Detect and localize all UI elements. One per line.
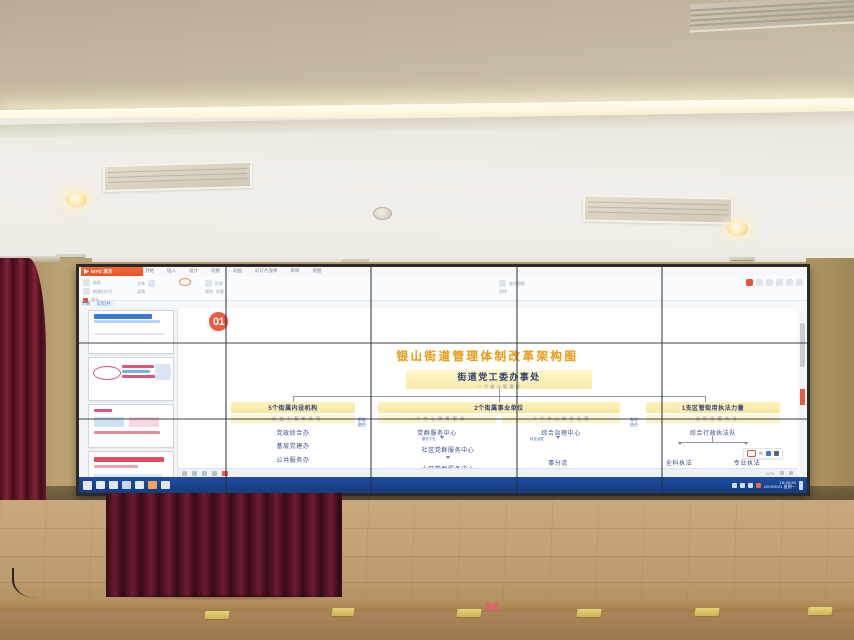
video-wall-bezel-v4 (661, 267, 663, 493)
org-col3-head: 1支区管街用执法力量 (646, 402, 780, 413)
ribbon-label-newslide: 新建幻灯片 (93, 289, 113, 295)
org-col2-item-left: 党群服务中心 (378, 428, 496, 437)
tab-slideshow[interactable]: 幻灯片放映 (255, 268, 278, 274)
minimize-icon[interactable] (786, 279, 793, 286)
wps-logo-badge: WPS 演示 (81, 267, 143, 276)
scrollbar-marker (800, 389, 805, 405)
conference-room-photo: WPS 演示 开始 插入 设计 切换 动画 幻灯片放映 审阅 视图 粘贴 (0, 0, 854, 640)
floor-tape-marker-2 (331, 608, 354, 616)
wps-app-name: WPS 演示 (91, 269, 113, 275)
org-flow-tag-left: 服务下沉 (422, 438, 436, 442)
org-arrow-down-3 (446, 456, 450, 459)
newslide-icon[interactable] (83, 288, 90, 295)
shape-icon[interactable] (205, 280, 212, 287)
tab-insert[interactable]: 插入 (167, 268, 176, 274)
ribbon-tab-row[interactable]: 开始 插入 设计 切换 动画 幻灯片放映 审阅 视图 (145, 268, 322, 274)
ribbon-group-paste[interactable]: 粘贴 新建幻灯片 版式 (83, 279, 113, 303)
org-col1-head: 5个街属内设机构 (231, 402, 355, 413)
podium-table-skirt (106, 477, 342, 597)
tab-animation[interactable]: 动画 (233, 268, 242, 274)
floor-tape-marker-4 (576, 609, 601, 617)
ribbon-label-paste: 粘贴 (93, 280, 101, 286)
tray-antivirus-icon[interactable] (756, 483, 761, 488)
org-col1-item-1: 党政综合办 (231, 428, 355, 437)
status-normal-view-icon[interactable] (182, 471, 187, 476)
ribbon-label-font: 字体 (137, 281, 145, 287)
org-arrow-down-4 (678, 442, 682, 445)
tray-volume-icon[interactable] (740, 483, 745, 488)
ribbon-label-outline: 轮廓 (216, 289, 224, 295)
paste-icon[interactable] (83, 279, 90, 286)
stage-curtain-left (0, 258, 46, 510)
tab-design[interactable]: 设计 (189, 268, 198, 274)
tray-network-icon[interactable] (732, 483, 737, 488)
ribbon-label-shape: 形状 (215, 281, 223, 287)
ime-settings-icon[interactable] (774, 451, 779, 456)
ribbon-group-font[interactable]: 字体 段落 (137, 280, 155, 295)
taskbar-explorer-icon[interactable] (96, 481, 105, 489)
floor-tape-marker-3 (456, 609, 481, 617)
floor-marker-x (485, 601, 499, 611)
ribbon-highlight-oval-icon (179, 278, 191, 286)
taskbar-app-icon[interactable] (161, 481, 170, 489)
wps-ribbon[interactable]: 粘贴 新建幻灯片 版式 字体 段落 形状 填充 轮廓 (79, 276, 807, 301)
org-root-label: 街道党工委办事处 (457, 370, 540, 383)
list-item[interactable]: 7 (88, 357, 174, 401)
cloud-icon[interactable] (756, 279, 763, 286)
close-icon[interactable] (796, 279, 803, 286)
org-root-node: 街道党工委办事处 一 个 核 心 管 理 部 (406, 370, 592, 389)
windows-taskbar[interactable]: 15:45:50 2020/9/21 星期一 (79, 477, 807, 493)
outline-slide-tab-row[interactable]: 大纲 幻灯片 (81, 301, 114, 307)
ime-keyboard-icon[interactable] (766, 451, 771, 456)
ribbon-label-paragraph: 段落 (137, 289, 145, 295)
org-arrow-down-2 (556, 436, 560, 439)
status-reading-view-icon[interactable] (212, 471, 217, 476)
wps-status-bar[interactable]: 117% (178, 468, 797, 477)
org-col3-leaf-2: 专业执法 (716, 458, 778, 467)
video-wall-bezel-v2 (370, 267, 372, 493)
list-item[interactable]: 6 (88, 310, 174, 354)
ribbon-group-member[interactable] (746, 279, 803, 286)
scrollbar-thumb[interactable] (800, 323, 805, 367)
ceiling-ac-grille-right (583, 194, 733, 224)
org-col3-hbar (680, 442, 746, 443)
list-item[interactable]: 9 (88, 451, 174, 477)
tab-start[interactable]: 开始 (145, 268, 154, 274)
floor-tape-marker-1 (204, 611, 229, 619)
org-flow-tag-right: 综合治理 (530, 438, 544, 442)
tab-slides[interactable]: 幻灯片 (94, 301, 114, 307)
org-col3-leaf-1: 全科执法 (648, 458, 710, 467)
ribbon-group-find[interactable]: 查找替换 选择 (499, 280, 525, 295)
video-wall-display-surface[interactable]: WPS 演示 开始 插入 设计 切换 动画 幻灯片放映 审阅 视图 粘贴 (79, 267, 807, 493)
taskbar-folder-icon[interactable] (135, 481, 144, 489)
zoom-out-icon[interactable] (780, 471, 784, 475)
font-size-icon[interactable] (148, 280, 155, 287)
video-wall-bezel-h2 (79, 418, 807, 420)
start-button-icon[interactable] (83, 481, 92, 490)
tab-outline[interactable]: 大纲 (81, 301, 90, 307)
tray-ime-icon[interactable] (748, 483, 753, 488)
org-col1-item-3: 公共服务办 (231, 455, 355, 464)
ribbon-label-select: 选择 (499, 289, 507, 295)
taskbar-clock[interactable]: 15:45:50 2020/9/21 星期一 (764, 481, 796, 490)
list-item[interactable]: 8 (88, 404, 174, 448)
slide-canvas[interactable]: 01 银山街道管理体制改革架构图 街道党工委办事处 一 个 核 心 管 理 部 … (178, 308, 797, 477)
taskbar-window-icon[interactable] (122, 481, 131, 489)
slide-title: 银山街道管理体制改革架构图 (178, 348, 797, 364)
share-icon[interactable] (766, 279, 773, 286)
ceiling-downlight-1 (66, 192, 87, 207)
ceiling-main-panel (0, 118, 854, 270)
video-wall-bezel-v3 (516, 267, 518, 493)
clock-date: 2020/9/21 星期一 (764, 485, 796, 489)
ime-logo-icon (747, 450, 756, 457)
org-arrow-down-1 (440, 436, 444, 439)
member-icon[interactable] (746, 279, 753, 286)
org-flow-left-1: 社区党群服务中心 (388, 445, 508, 454)
org-col2-item-right: 综合治理中心 (502, 428, 620, 437)
zoom-in-icon[interactable] (789, 471, 793, 475)
help-icon[interactable] (776, 279, 783, 286)
ribbon-label-fill: 填充 (205, 289, 213, 295)
status-sorter-view-icon[interactable] (192, 471, 197, 476)
org-col2-head: 2个街属事业单位 (378, 402, 620, 413)
tab-review[interactable]: 审阅 (291, 268, 300, 274)
taskbar-browser-icon[interactable] (109, 481, 118, 489)
video-wall-bezel-v1 (225, 267, 227, 493)
ceiling-downlight-2 (727, 221, 748, 236)
org-col1-item-2: 基层党建办 (231, 441, 355, 450)
ceiling-smoke-detector (373, 207, 392, 220)
floor-tape-marker-6 (807, 607, 832, 615)
taskbar-wps-icon[interactable] (148, 481, 157, 489)
org-arrow-down-5 (744, 442, 748, 445)
taskbar-system-tray[interactable]: 15:45:50 2020/9/21 星期一 (732, 481, 803, 490)
slide-thumbnail-pane[interactable]: 6 7 8 (79, 308, 178, 477)
org-flow-right-1: 事分流 (508, 458, 608, 467)
search-icon[interactable] (499, 280, 506, 287)
show-desktop-icon[interactable] (799, 481, 803, 490)
ime-language-bar[interactable]: 中 (743, 448, 783, 459)
ceiling-ac-grille-left (103, 161, 252, 192)
ribbon-group-shape[interactable]: 形状 填充 轮廓 (205, 280, 224, 295)
ime-mode-label[interactable]: 中 (759, 451, 763, 457)
tab-transition[interactable]: 切换 (211, 268, 220, 274)
wps-logo-icon (84, 269, 89, 274)
zoom-level-label[interactable]: 117% (765, 471, 775, 476)
led-video-wall[interactable]: WPS 演示 开始 插入 设计 切换 动画 幻灯片放映 审阅 视图 粘贴 (76, 264, 810, 496)
right-wall (806, 258, 854, 510)
floor-tape-marker-5 (694, 608, 719, 616)
podium-floor-shadow (104, 595, 348, 601)
status-notes-view-icon[interactable] (202, 471, 207, 476)
video-wall-bezel-h1 (79, 342, 807, 344)
tab-view[interactable]: 视图 (313, 268, 322, 274)
audience-floor (0, 612, 854, 640)
